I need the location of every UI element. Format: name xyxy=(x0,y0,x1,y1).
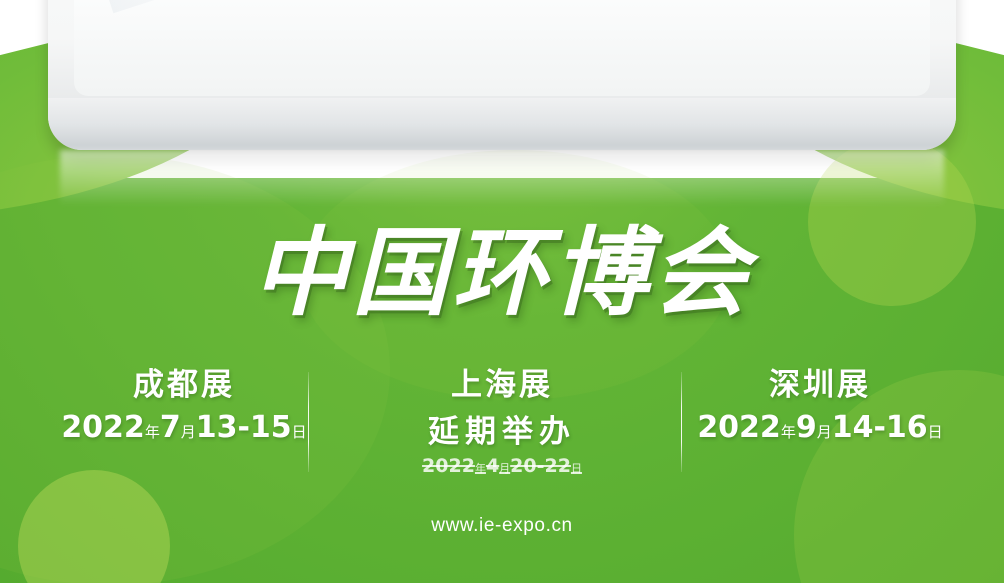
page-title: 中国环博会 xyxy=(0,225,1004,321)
city-date-chengdu: 2022年7月13-15日 xyxy=(25,410,343,445)
tablet-bezel xyxy=(48,98,956,150)
tablet-device: 环博会 xyxy=(48,0,956,150)
date-month: 7 xyxy=(160,410,181,445)
city-block-shenzhen: 深圳展 2022年9月14-16日 xyxy=(661,368,979,445)
old-date-year: 2022 xyxy=(422,455,475,477)
old-date-days: 20-22 xyxy=(510,455,571,477)
date-days: 13-15 xyxy=(196,410,292,445)
date-day-unit: 日 xyxy=(928,423,943,441)
date-day-unit: 日 xyxy=(292,423,307,441)
city-name-chengdu: 成都展 xyxy=(25,368,343,404)
old-date-day-unit: 日 xyxy=(571,462,582,475)
old-date-year-unit: 年 xyxy=(475,462,486,475)
old-date-month: 4 xyxy=(486,455,499,477)
date-year: 2022 xyxy=(61,410,145,445)
city-block-chengdu: 成都展 2022年7月13-15日 xyxy=(25,368,343,445)
section-divider-left xyxy=(308,372,309,472)
expo-poster: 环博会 xyxy=(0,0,1004,583)
website-url[interactable]: www.ie-expo.cn xyxy=(0,515,1004,537)
city-name-shanghai: 上海展 xyxy=(343,368,661,404)
device-floor-reflection xyxy=(60,150,944,206)
date-month-unit: 月 xyxy=(181,423,196,441)
date-month-unit: 月 xyxy=(817,423,832,441)
date-year-unit: 年 xyxy=(781,423,796,441)
date-days: 14-16 xyxy=(832,410,928,445)
date-month: 9 xyxy=(796,410,817,445)
city-date-shenzhen: 2022年9月14-16日 xyxy=(661,410,979,445)
date-year: 2022 xyxy=(697,410,781,445)
date-year-unit: 年 xyxy=(145,423,160,441)
tablet-screen: 环博会 xyxy=(74,0,930,96)
device-sheen-left xyxy=(74,0,437,13)
city-schedule: 成都展 2022年7月13-15日 上海展 延期举办 2022年4月20-22日… xyxy=(0,368,1004,488)
city-name-shenzhen: 深圳展 xyxy=(661,368,979,404)
city-old-date-shanghai: 2022年4月20-22日 xyxy=(343,455,661,477)
city-block-shanghai: 上海展 延期举办 2022年4月20-22日 xyxy=(343,368,661,477)
section-divider-right xyxy=(681,372,682,472)
city-status-shanghai: 延期举办 xyxy=(343,406,661,451)
old-date-month-unit: 月 xyxy=(499,462,510,475)
